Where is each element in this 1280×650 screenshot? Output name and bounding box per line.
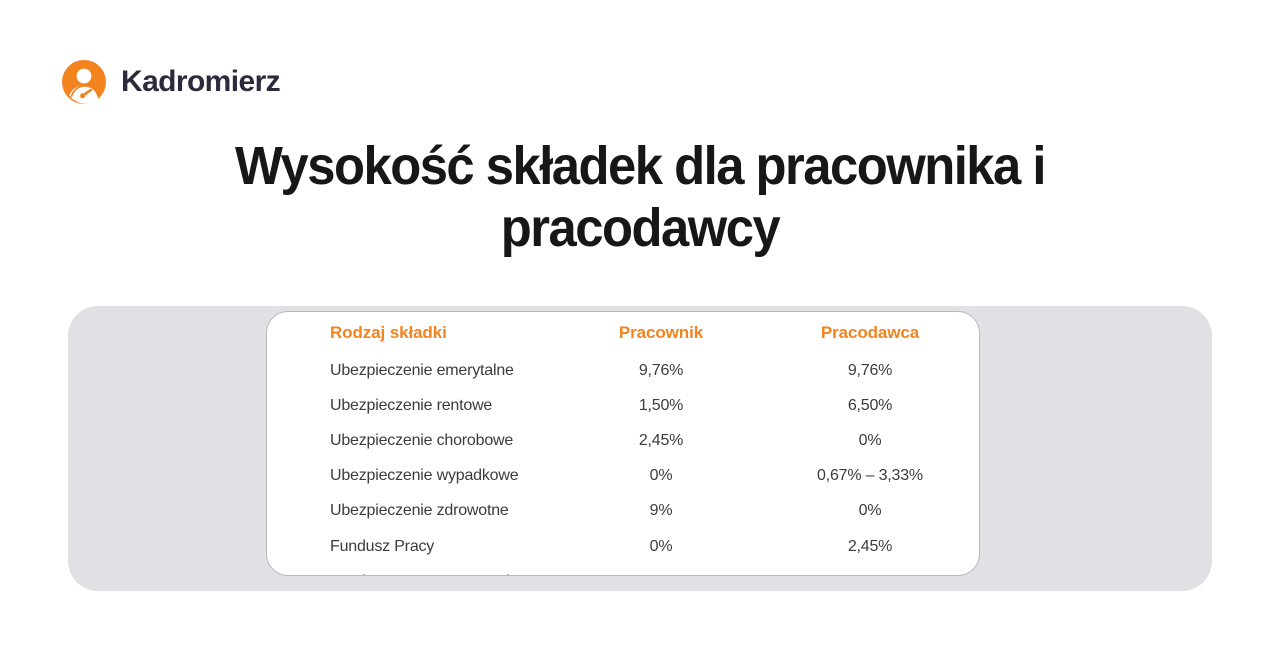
table-row: Ubezpieczenie zdrowotne 9% 0%: [267, 493, 980, 528]
table-row: Ubezpieczenie wypadkowe 0% 0,67% – 3,33%: [267, 458, 980, 493]
cell-employee-rate: 1,50%: [563, 388, 759, 423]
cell-employer-rate: 2,45%: [759, 529, 980, 564]
page-title: Wysokość składek dla pracownika i pracod…: [160, 136, 1120, 259]
person-avatar-speedometer-icon: [60, 58, 108, 106]
column-header-employer: Pracodawca: [759, 319, 980, 353]
cell-contribution-type-line1: Fundusz Gwarantowanych: [330, 573, 515, 576]
cell-contribution-type: Ubezpieczenie wypadkowe: [267, 458, 563, 493]
brand-logo: Kadromierz: [60, 58, 280, 106]
cell-employer-rate: 6,50%: [759, 388, 980, 423]
table-row: Ubezpieczenie emerytalne 9,76% 9,76%: [267, 353, 980, 388]
cell-contribution-type: Ubezpieczenie chorobowe: [267, 423, 563, 458]
cell-employee-rate: 9,76%: [563, 353, 759, 388]
column-header-employee: Pracownik: [563, 319, 759, 353]
cell-employer-rate: 0%: [759, 423, 980, 458]
brand-name: Kadromierz: [121, 67, 280, 97]
cell-employee-rate: 0%: [563, 529, 759, 564]
cell-contribution-type: Ubezpieczenie emerytalne: [267, 353, 563, 388]
cell-contribution-type: Ubezpieczenie rentowe: [267, 388, 563, 423]
table-header: Rodzaj składki Pracownik Pracodawca: [267, 319, 980, 353]
table-row: Fundusz Gwarantowanych Świadczeń Pracown…: [267, 564, 980, 576]
table-row: Fundusz Pracy 0% 2,45%: [267, 529, 980, 564]
cell-employer-rate: 0%: [759, 493, 980, 528]
table-body: Ubezpieczenie emerytalne 9,76% 9,76% Ube…: [267, 353, 980, 576]
cell-employee-rate: 9%: [563, 493, 759, 528]
cell-contribution-type: Fundusz Gwarantowanych Świadczeń Pracown…: [267, 564, 563, 576]
cell-employer-rate: 9,76%: [759, 353, 980, 388]
table-row: Ubezpieczenie chorobowe 2,45% 0%: [267, 423, 980, 458]
cell-employer-rate: 0,67% – 3,33%: [759, 458, 980, 493]
cell-employee-rate: 0%: [563, 564, 759, 576]
cell-contribution-type: Ubezpieczenie zdrowotne: [267, 493, 563, 528]
contributions-table-card: Rodzaj składki Pracownik Pracodawca Ubez…: [266, 311, 980, 576]
cell-employee-rate: 0%: [563, 458, 759, 493]
page-title-text: Wysokość składek dla pracownika i pracod…: [189, 136, 1091, 259]
cell-employee-rate: 2,45%: [563, 423, 759, 458]
cell-employer-rate: 0,10%: [759, 564, 980, 576]
table-header-row: Rodzaj składki Pracownik Pracodawca: [267, 319, 980, 353]
cell-contribution-type: Fundusz Pracy: [267, 529, 563, 564]
contributions-table: Rodzaj składki Pracownik Pracodawca Ubez…: [267, 319, 980, 576]
table-row: Ubezpieczenie rentowe 1,50% 6,50%: [267, 388, 980, 423]
column-header-type: Rodzaj składki: [267, 319, 563, 353]
